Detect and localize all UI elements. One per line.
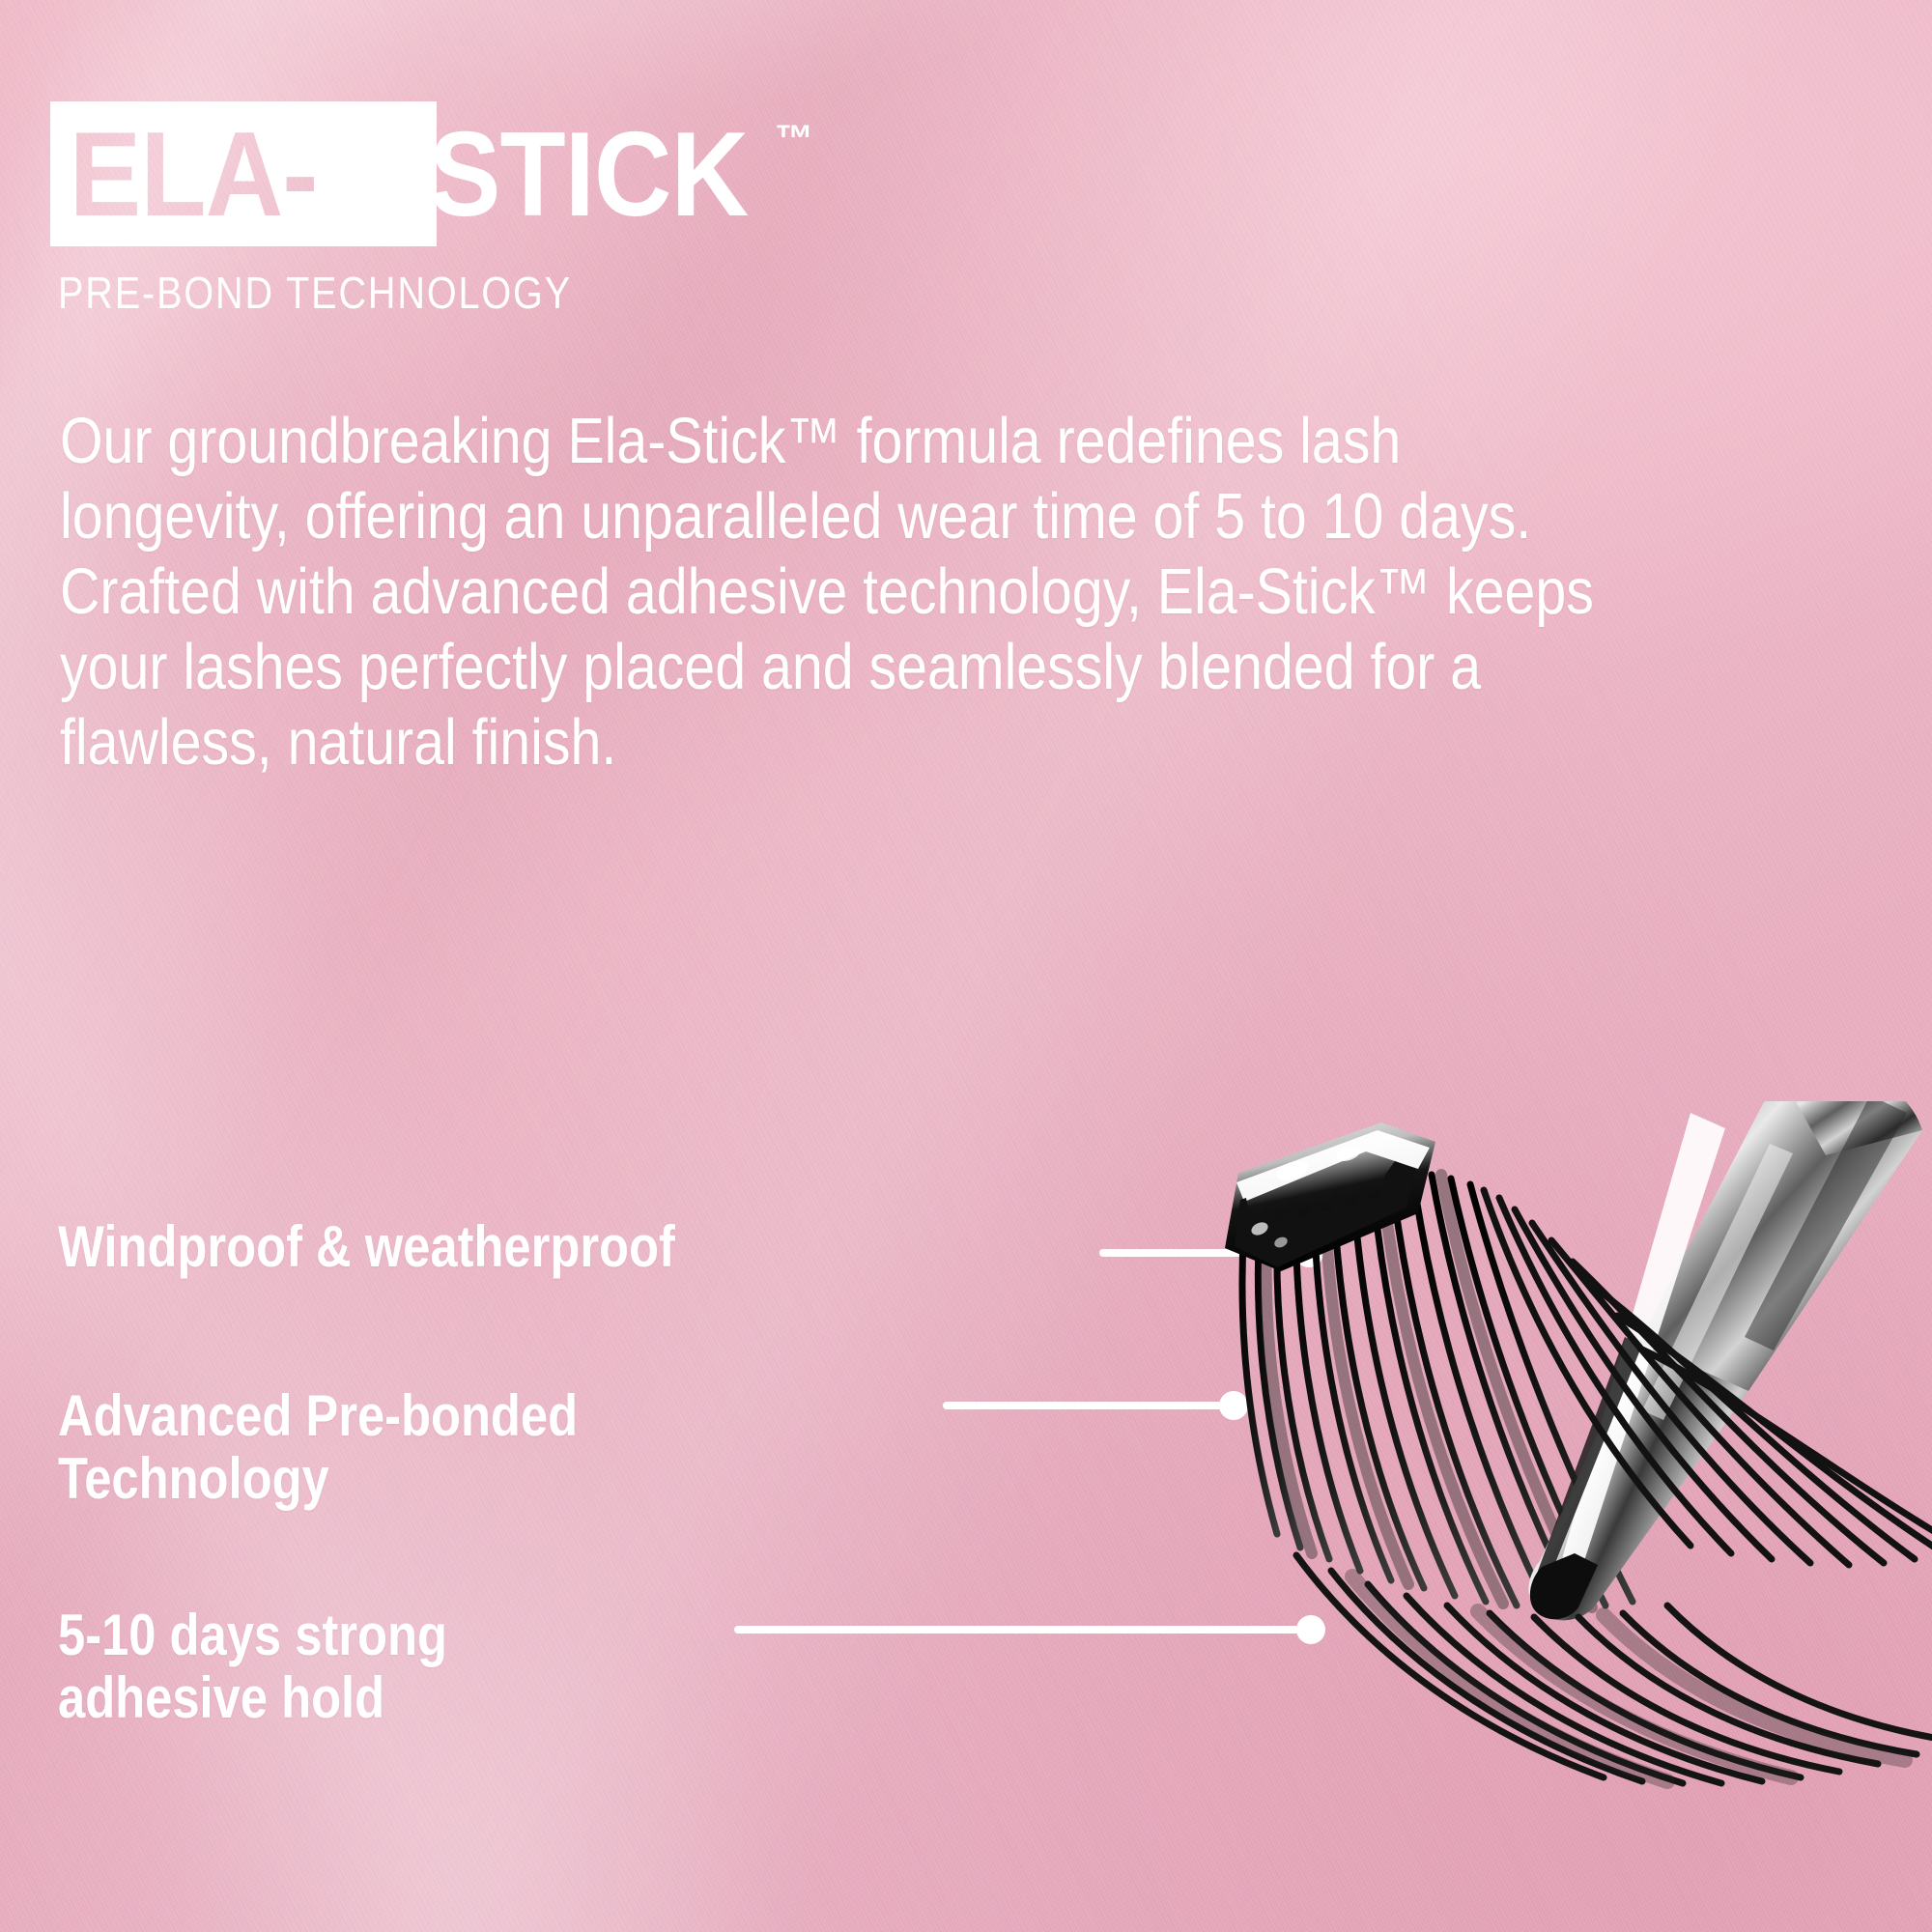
feature-item-adhesive-hold: 5-10 days strong adhesive hold (58, 1604, 519, 1730)
feature-item-windproof: Windproof & weatherproof (58, 1215, 788, 1278)
feature-label: Windproof & weatherproof (58, 1215, 675, 1278)
feature-label: 5-10 days strong adhesive hold (58, 1604, 447, 1730)
promo-graphic: ELA- STICK ™ PRE-BOND TECHNOLOGY Our gro… (0, 0, 1932, 1932)
product-photo-lash-tweezer (1188, 1101, 1932, 1932)
feature-item-pre-bonded: Advanced Pre-bonded Technology (58, 1384, 673, 1511)
connector-bar (943, 1402, 1225, 1409)
lash-illustration (1188, 1101, 1932, 1932)
feature-label: Advanced Pre-bonded Technology (58, 1384, 578, 1511)
